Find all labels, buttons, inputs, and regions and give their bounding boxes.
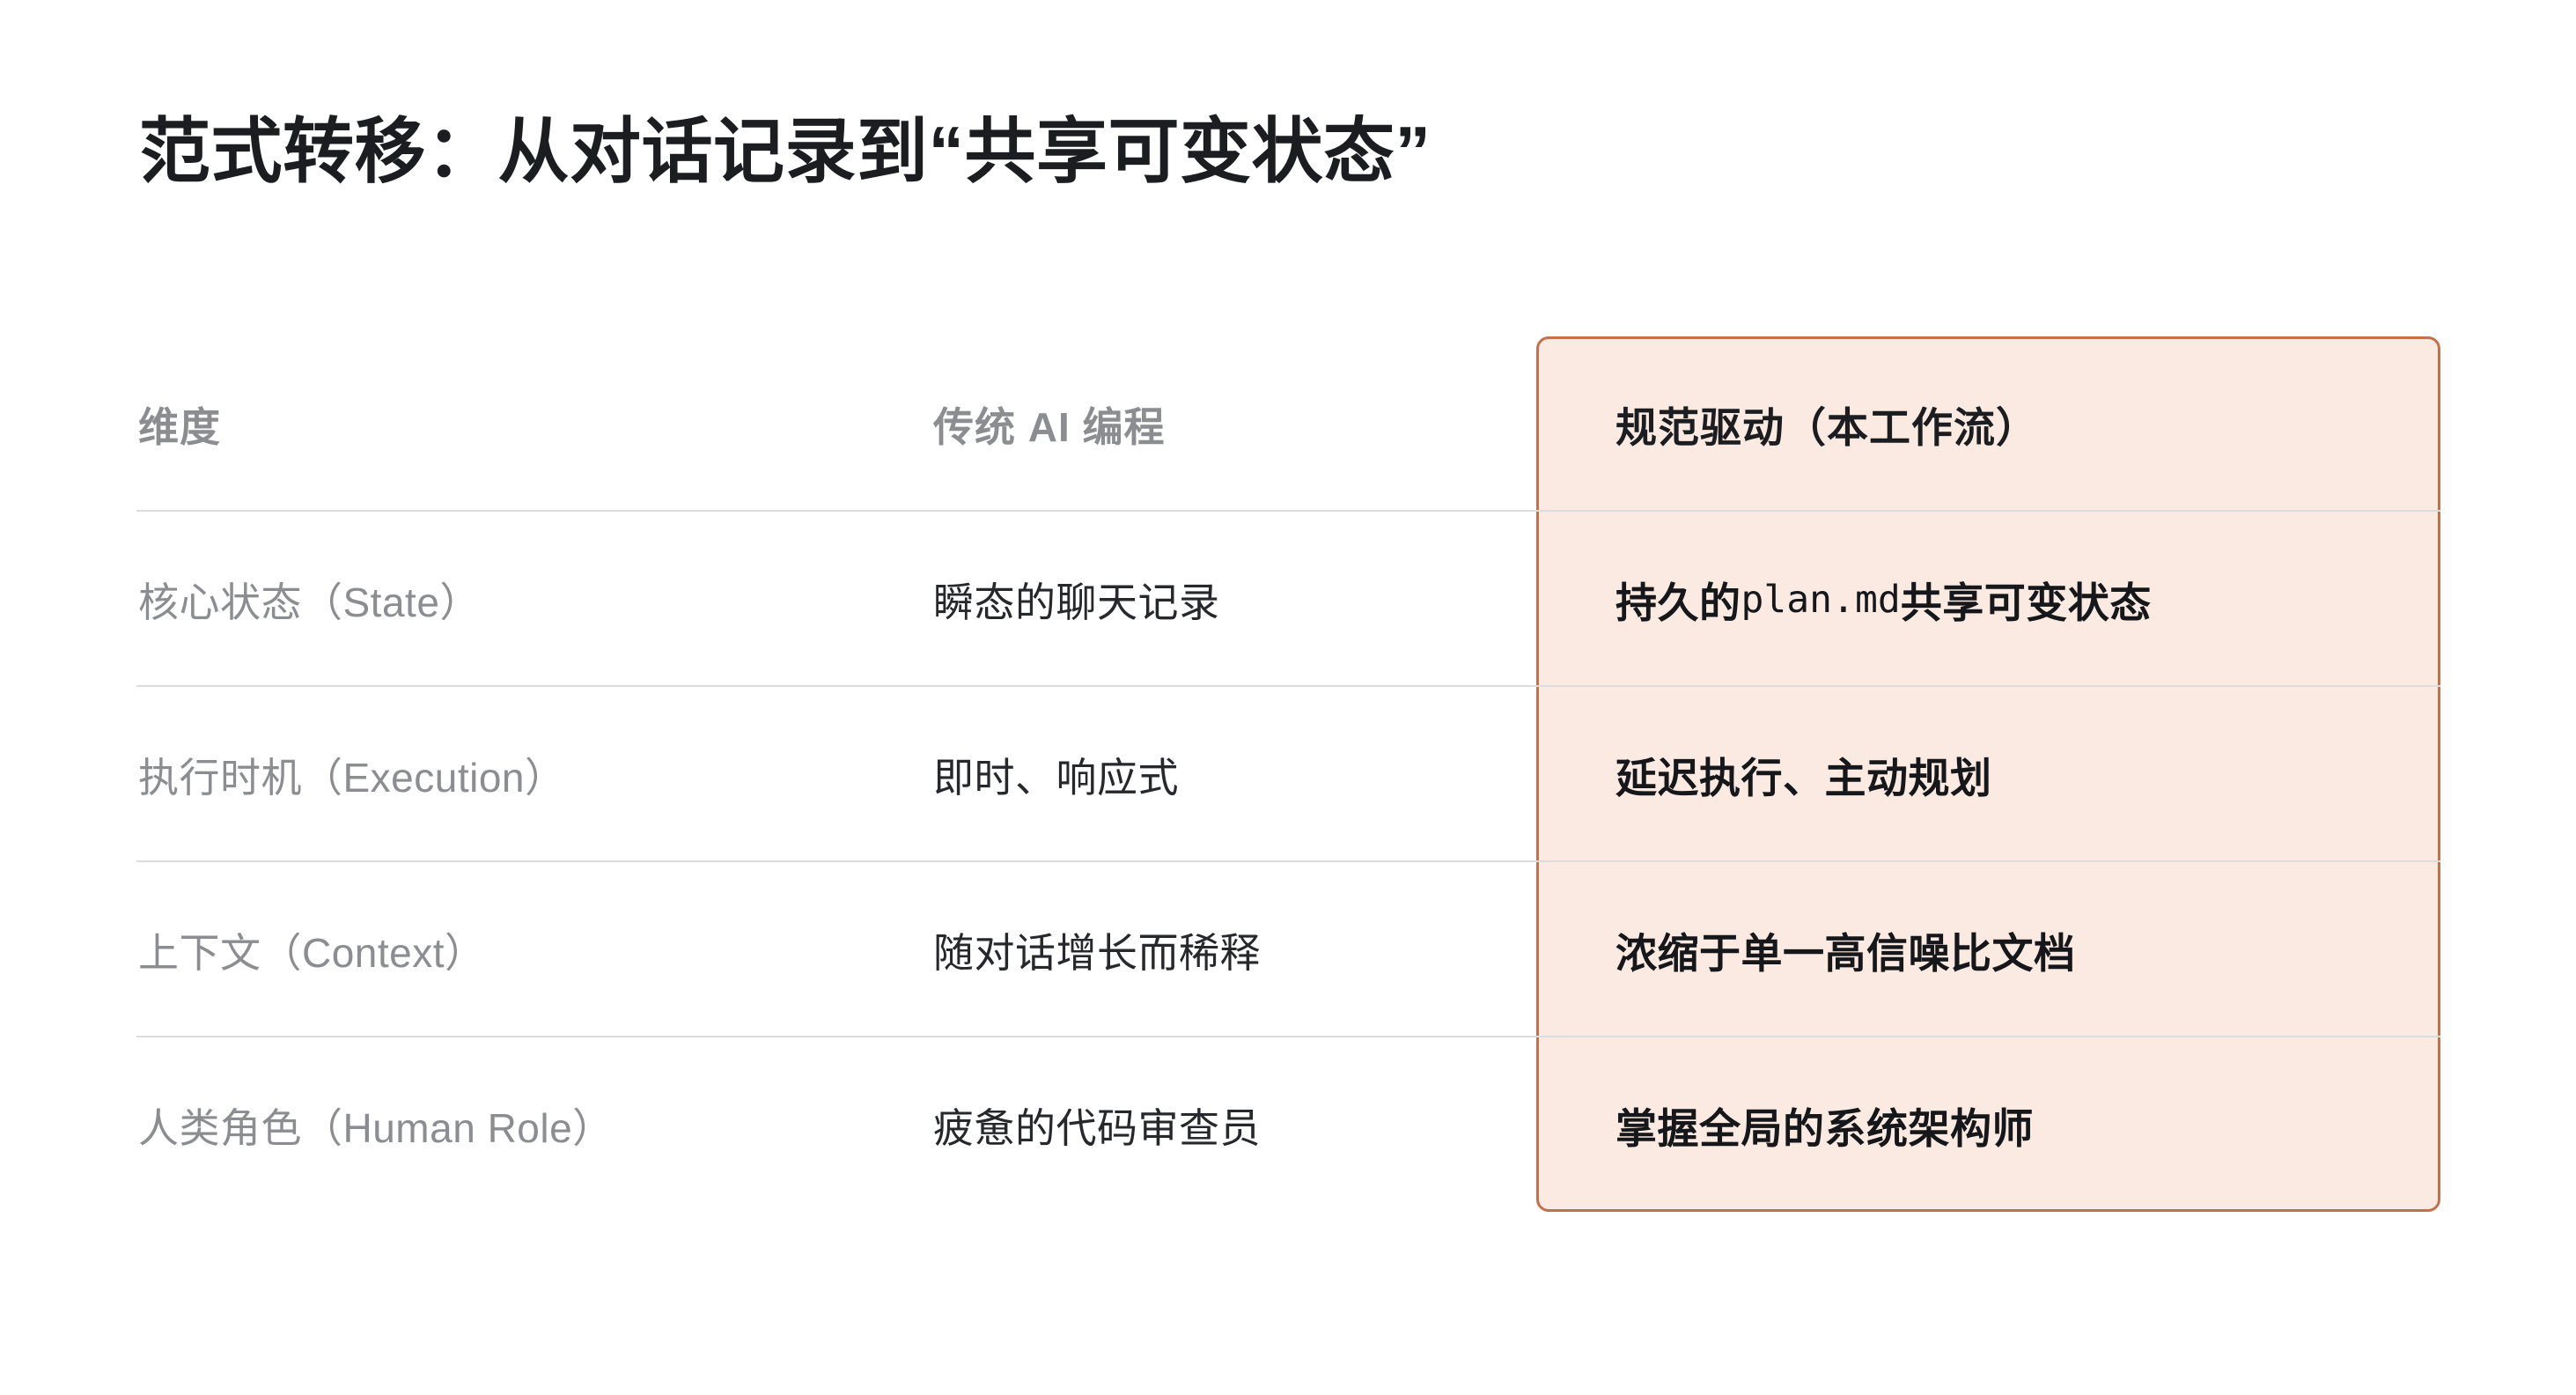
table-cell-spec-driven: 浓缩于单一高信噪比文档 (1616, 862, 2434, 1037)
table-cell-spec-driven: 持久的 plan.md 共享可变状态 (1616, 512, 2434, 687)
table-header-cell-traditional: 传统 AI 编程 (933, 336, 1514, 512)
table-cell-dimension: 核心状态（State） (138, 512, 913, 687)
page-title: 范式转移：从对话记录到“共享可变状态” (139, 111, 1432, 196)
cell-label: 随对话增长而稀释 (933, 921, 1261, 979)
cell-label: 核心状态（State） (138, 571, 481, 629)
cell-label: 瞬态的聊天记录 (933, 571, 1220, 629)
table-header-cell-spec-driven: 规范驱动（本工作流） (1616, 336, 2434, 512)
cell-label-prefix: 持久的 (1616, 569, 1741, 630)
table-header-row: 维度 传统 AI 编程 规范驱动（本工作流） (136, 336, 2440, 512)
column-header-label: 规范驱动（本工作流） (1616, 394, 2038, 454)
table-grid: 维度 传统 AI 编程 规范驱动（本工作流） 核心状态（State） 瞬态的聊天… (136, 336, 2440, 1214)
table-cell-traditional: 即时、响应式 (933, 687, 1514, 862)
table-cell-traditional: 瞬态的聊天记录 (933, 512, 1514, 687)
comparison-table: 维度 传统 AI 编程 规范驱动（本工作流） 核心状态（State） 瞬态的聊天… (136, 336, 2440, 1214)
table-cell-dimension: 上下文（Context） (138, 862, 913, 1037)
table-row: 执行时机（Execution） 即时、响应式 延迟执行、主动规划 (136, 687, 2440, 862)
cell-label-suffix: 共享可变状态 (1901, 569, 2152, 630)
table-cell-dimension: 执行时机（Execution） (138, 687, 913, 862)
table-cell-dimension: 人类角色（Human Role） (138, 1037, 913, 1213)
cell-label-prefix: 延迟执行、主动规划 (1616, 744, 1992, 805)
cell-label: 执行时机（Execution） (138, 746, 566, 804)
cell-label: 人类角色（Human Role） (138, 1096, 614, 1155)
cell-label: 疲惫的代码审查员 (933, 1096, 1261, 1155)
inline-code-filename: plan.md (1741, 578, 1901, 622)
table-cell-traditional: 随对话增长而稀释 (933, 862, 1514, 1037)
table-row: 核心状态（State） 瞬态的聊天记录 持久的 plan.md 共享可变状态 (136, 512, 2440, 687)
column-header-label: 维度 (138, 395, 221, 454)
table-cell-traditional: 疲惫的代码审查员 (933, 1037, 1514, 1213)
cell-label: 上下文（Context） (138, 921, 486, 979)
slide-canvas: 范式转移：从对话记录到“共享可变状态” 维度 传统 AI 编程 规范驱动（本工作… (0, 0, 2576, 1395)
column-header-label: 传统 AI 编程 (933, 395, 1166, 454)
cell-label-prefix: 掌握全局的系统架构师 (1616, 1095, 2034, 1155)
cell-label: 即时、响应式 (933, 746, 1179, 804)
table-cell-spec-driven: 延迟执行、主动规划 (1616, 687, 2434, 862)
table-header-cell-dimension: 维度 (138, 336, 913, 512)
table-row: 上下文（Context） 随对话增长而稀释 浓缩于单一高信噪比文档 (136, 862, 2440, 1037)
table-cell-spec-driven: 掌握全局的系统架构师 (1616, 1037, 2434, 1213)
table-row: 人类角色（Human Role） 疲惫的代码审查员 掌握全局的系统架构师 (136, 1037, 2440, 1213)
cell-label-prefix: 浓缩于单一高信噪比文档 (1616, 919, 2076, 980)
